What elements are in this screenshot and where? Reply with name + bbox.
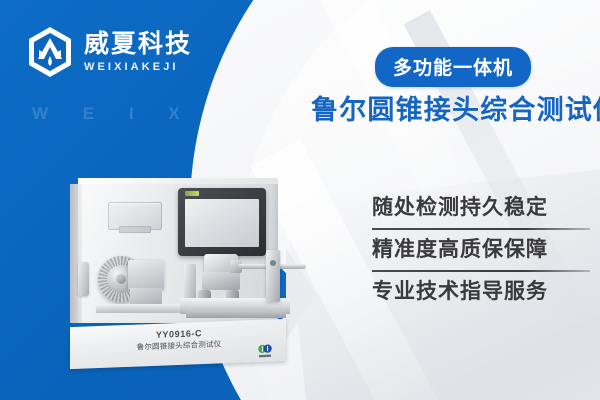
feature-list: 随处检测持久稳定 精准度高质保保障 专业技术指导服务: [372, 191, 590, 309]
hmi-led-icon: [185, 191, 199, 196]
fixture-clamp: [202, 272, 240, 290]
feature-text: 精准度高质保保障: [372, 233, 590, 268]
drive-block: [128, 260, 164, 290]
feature-divider: [372, 228, 590, 230]
machine-bed-lower: [186, 310, 286, 318]
end-post-hole: [270, 260, 276, 266]
product-banner: 威夏科技 WEIXIAKEJI W E I X I A K 多功能一体机 鲁尔圆…: [0, 0, 600, 400]
machine-access-panel: [108, 202, 162, 230]
hero-badge: 多功能一体机: [375, 47, 531, 87]
feature-text: 专业技术指导服务: [372, 275, 590, 310]
machine-body-top: [78, 178, 278, 184]
certification-emblem-icon: [256, 342, 274, 361]
brand-name-en: WEIXIAKEJI: [84, 61, 192, 73]
handwheel-hub: [116, 274, 126, 284]
brand-logo: 威夏科技 WEIXIAKEJI: [26, 26, 192, 78]
hero-headline: 鲁尔圆锥接头综合测试仪: [311, 88, 600, 127]
brand-name-cn: 威夏科技: [84, 31, 192, 57]
feature-item: 随处检测持久稳定: [372, 191, 590, 230]
machine-left-face: [70, 184, 82, 323]
base-rail-plate: [96, 304, 182, 313]
feature-divider: [372, 270, 590, 272]
feature-item: 专业技术指导服务: [372, 275, 590, 310]
hexagon-shield-logo-icon: [26, 26, 74, 78]
feature-text: 随处检测持久稳定: [372, 191, 590, 226]
hmi-touchscreen: [178, 188, 266, 256]
brand-logo-text: 威夏科技 WEIXIAKEJI: [84, 31, 192, 72]
feature-item: 精准度高质保保障: [372, 233, 590, 272]
hmi-screen-display: [185, 199, 259, 247]
product-image: YY0916-C 鲁尔圆锥接头综合测试仪: [70, 178, 300, 373]
handwheel-lever: [78, 262, 89, 296]
brand-watermark: W E I X I A K: [32, 104, 327, 124]
end-support-post: [266, 250, 280, 302]
